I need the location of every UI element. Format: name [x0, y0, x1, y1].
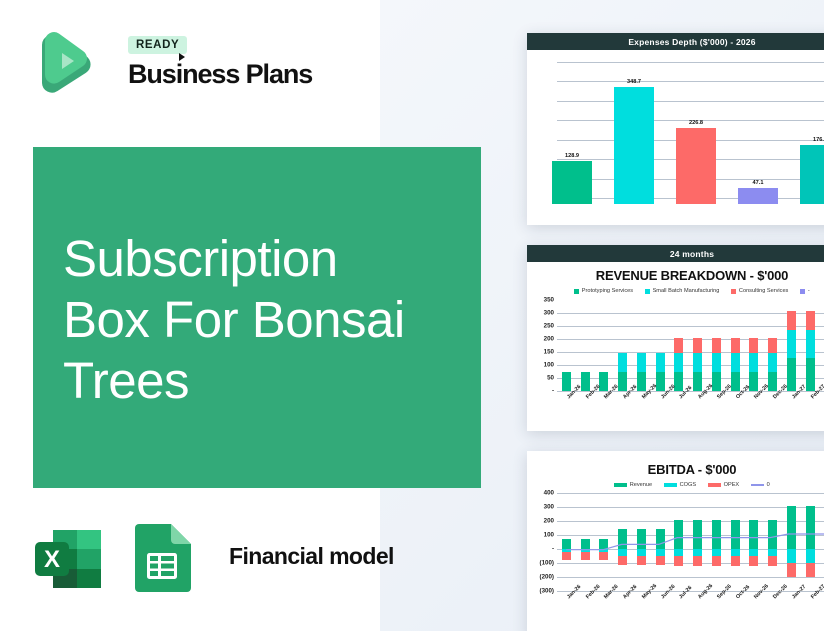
expenses-plot-area: 128.9348.7226.847.1176.5 [527, 54, 824, 204]
ebitda-xlabel-slot: Aug-26 [693, 596, 702, 614]
revenue-period-header: 24 months [527, 245, 824, 262]
revenue-bar-segment [693, 338, 702, 354]
legend-swatch [731, 289, 736, 294]
revenue-legend: Prototyping ServicesSmall Batch Manufact… [527, 283, 824, 294]
revenue-chart-title: REVENUE BREAKDOWN - $'000 [527, 262, 824, 283]
svg-text:X: X [44, 546, 60, 573]
expenses-bar-value: 47.1 [753, 180, 764, 186]
legend-item: Small Batch Manufacturing [645, 288, 719, 294]
revenue-bar-segment [693, 353, 702, 371]
ebitda-xlabel-slot: Oct-26 [731, 596, 740, 614]
revenue-bar-segment [656, 353, 665, 371]
ebitda-xlabel-slot: Sep-26 [712, 596, 721, 614]
ebitda-xlabel-slot: May-26 [637, 596, 646, 614]
ebitda-xlabel-slot: Jan-27 [787, 596, 796, 614]
revenue-bar-column [674, 297, 683, 391]
revenue-bar-column [749, 297, 758, 391]
revenue-bar-segment [637, 353, 646, 371]
revenue-ytick: 200 [544, 336, 554, 343]
revenue-bar-segment [768, 353, 777, 371]
revenue-bar-segment [806, 330, 815, 357]
ebitda-ytick: (200) [540, 574, 554, 581]
expenses-bar-column: 128.9 [552, 54, 592, 204]
legend-label: COGS [680, 482, 696, 488]
revenue-xlabel-slot: Feb-27 [806, 396, 815, 414]
expenses-bar [800, 145, 824, 204]
expenses-bar-value: 226.8 [689, 120, 703, 126]
revenue-ytick: 350 [544, 297, 554, 304]
revenue-bar-column [599, 297, 608, 391]
ebitda-xlabel-slot: Jul-26 [674, 596, 683, 614]
revenue-ytick: - [552, 388, 554, 395]
expenses-bar-value: 348.7 [627, 79, 641, 85]
expenses-chart-card[interactable]: Expenses Depth ($'000) - 2026 128.9348.7… [527, 33, 824, 225]
revenue-bar-column [581, 297, 590, 391]
legend-label: Small Batch Manufacturing [653, 288, 720, 294]
revenue-ytick: 50 [547, 375, 554, 382]
legend-item: - [800, 288, 809, 294]
ebitda-ytick: 300 [544, 504, 554, 511]
revenue-bar-segment [562, 372, 571, 392]
expenses-bar-column: 176.5 [800, 54, 824, 204]
ebitda-yaxis: 400300200100-(100)(200)(300) [527, 490, 557, 594]
revenue-bar-column [656, 297, 665, 391]
revenue-bar-segment [618, 372, 627, 392]
revenue-bars [557, 297, 824, 391]
ebitda-ytick: - [552, 546, 554, 553]
revenue-bar-column [693, 297, 702, 391]
legend-label: Revenue [630, 482, 652, 488]
legend-label: - [808, 288, 810, 294]
revenue-bar-segment [731, 338, 740, 354]
ebitda-xlabel-slot: Feb-27 [806, 596, 815, 614]
revenue-bar-column [787, 297, 796, 391]
ebitda-xlabels: Jan-26Feb-26Mar-26Apr-26May-26Jun-26Jul-… [557, 596, 824, 614]
legend-item: Revenue [614, 482, 652, 488]
revenue-bar-segment [618, 353, 627, 371]
revenue-xlabel-slot: Sep-26 [712, 396, 721, 414]
legend-swatch [614, 483, 627, 487]
revenue-xlabel-slot: Jan-27 [787, 396, 796, 414]
revenue-bar-segment [768, 372, 777, 392]
revenue-ytick: 250 [544, 323, 554, 330]
ebitda-xlabel-slot: Jan-26 [562, 596, 571, 614]
ready-badge: READY [128, 36, 187, 54]
legend-swatch [751, 484, 764, 486]
expenses-bar-value: 128.9 [565, 153, 579, 159]
brand-logo[interactable]: READY Business Plans [34, 27, 334, 99]
revenue-bar-segment [787, 358, 796, 391]
legend-label: Consulting Services [739, 288, 788, 294]
expenses-bar-value: 176.5 [813, 137, 824, 143]
revenue-bar-column [562, 297, 571, 391]
legend-label: Prototyping Services [582, 288, 633, 294]
expenses-chart-title: Expenses Depth ($'000) - 2026 [527, 33, 824, 50]
revenue-xlabel-slot: Jun-26 [656, 396, 665, 414]
revenue-bar-segment [787, 311, 796, 330]
ebitda-ytick: 100 [544, 532, 554, 539]
ebitda-xlabel-slot: Dec-26 [768, 596, 777, 614]
revenue-bar-column [618, 297, 627, 391]
expenses-bar-column: 47.1 [738, 54, 778, 204]
ebitda-chart-card[interactable]: EBITDA - $'000 RevenueCOGSOPEX0 40030020… [527, 451, 824, 631]
revenue-bar-column [712, 297, 721, 391]
brand-text: READY Business Plans [128, 35, 312, 90]
legend-swatch [708, 483, 721, 487]
ebitda-ytick: 200 [544, 518, 554, 525]
brand-name-text: Business Plans [128, 59, 312, 89]
revenue-bar-segment [749, 338, 758, 354]
financial-model-label: Financial model [229, 543, 394, 570]
revenue-xlabel-slot: Feb-26 [581, 396, 590, 414]
legend-item: Prototyping Services [574, 288, 633, 294]
revenue-bar-segment [749, 353, 758, 371]
play-tick-icon [179, 53, 185, 61]
revenue-bar-segment [674, 338, 683, 354]
revenue-plot-area: 35030025020015010050-Jan-26Feb-26Mar-26A… [527, 297, 824, 394]
revenue-bar-column [806, 297, 815, 391]
revenue-bar-column [768, 297, 777, 391]
revenue-bar-segment [712, 353, 721, 371]
revenue-xlabel-slot: Oct-26 [731, 396, 740, 414]
revenue-xlabel-slot: Jul-26 [674, 396, 683, 414]
revenue-yaxis: 35030025020015010050- [527, 297, 557, 394]
expenses-bar-column: 348.7 [614, 54, 654, 204]
ebitda-ytick: (300) [540, 588, 554, 595]
revenue-xlabel-slot: May-26 [637, 396, 646, 414]
revenue-bar-segment [768, 338, 777, 354]
ebitda-xlabel-slot: Mar-26 [599, 596, 608, 614]
revenue-xlabel-slot: Aug-26 [693, 396, 702, 414]
legend-label: 0 [767, 482, 770, 488]
expenses-bar [676, 128, 716, 204]
revenue-ytick: 150 [544, 349, 554, 356]
revenue-bar-segment [787, 330, 796, 357]
revenue-xlabel-slot: Dec-26 [768, 396, 777, 414]
ebitda-xlabel-slot: Feb-26 [581, 596, 590, 614]
revenue-bar-segment [674, 353, 683, 371]
revenue-bar-column [637, 297, 646, 391]
legend-label: OPEX [724, 482, 740, 488]
ebitda-xlabel-slot: Apr-26 [618, 596, 627, 614]
ebitda-plot-area: 400300200100-(100)(200)(300)Jan-26Feb-26… [527, 490, 824, 594]
revenue-ytick: 300 [544, 310, 554, 317]
revenue-bar-segment [806, 311, 815, 330]
revenue-ytick: 100 [544, 362, 554, 369]
page-title: Subscription Box For Bonsai Trees [63, 228, 483, 411]
revenue-bar-segment [806, 358, 815, 391]
revenue-xlabel-slot: Jan-26 [562, 396, 571, 414]
revenue-bar-segment [712, 338, 721, 354]
legend-swatch [800, 289, 805, 294]
legend-swatch [574, 289, 579, 294]
ebitda-ytick: (100) [540, 560, 554, 567]
brand-name: Business Plans [128, 59, 312, 90]
revenue-bar-segment [693, 372, 702, 392]
revenue-bar-segment [731, 353, 740, 371]
legend-item: COGS [664, 482, 696, 488]
ebitda-chart-title: EBITDA - $'000 [527, 451, 824, 477]
revenue-chart-card[interactable]: 24 months REVENUE BREAKDOWN - $'000 Prot… [527, 245, 824, 431]
ebitda-xlabel-slot: Jun-26 [656, 596, 665, 614]
legend-item: 0 [751, 482, 770, 488]
google-sheets-icon [131, 522, 195, 596]
legend-swatch [664, 483, 677, 487]
revenue-bar-column [731, 297, 740, 391]
expenses-bar-column: 226.8 [676, 54, 716, 204]
revenue-xlabel-slot: Apr-26 [618, 396, 627, 414]
ebitda-legend: RevenueCOGSOPEX0 [527, 477, 824, 488]
play-triangle-logo-icon [34, 31, 96, 95]
ebitda-xlabel-slot: Nov-26 [749, 596, 758, 614]
expenses-bar [738, 188, 778, 204]
revenue-xlabels: Jan-26Feb-26Mar-26Apr-26May-26Jun-26Jul-… [557, 396, 824, 414]
expenses-bar [552, 161, 592, 204]
ebitda-ytick: 400 [544, 490, 554, 497]
revenue-xlabel-slot: Nov-26 [749, 396, 758, 414]
legend-item: OPEX [708, 482, 739, 488]
microsoft-excel-icon: X [31, 522, 105, 596]
legend-item: Consulting Services [731, 288, 788, 294]
revenue-xlabel-slot: Mar-26 [599, 396, 608, 414]
expenses-bars: 128.9348.7226.847.1176.5 [541, 54, 824, 204]
expenses-bar [614, 87, 654, 204]
legend-swatch [645, 289, 650, 294]
